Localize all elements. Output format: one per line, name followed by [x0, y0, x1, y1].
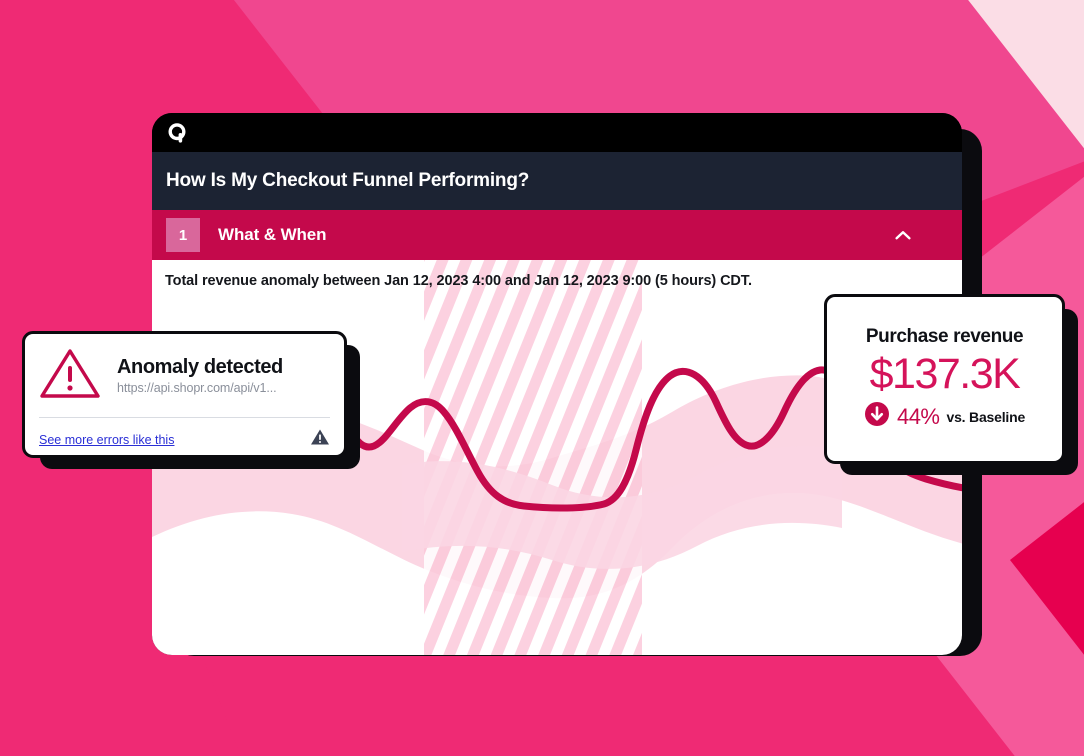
anomaly-card-body: Anomaly detected https://api.shopr.com/a…	[25, 334, 344, 413]
section-title: What & When	[218, 225, 326, 245]
see-more-errors-link[interactable]: See more errors like this	[39, 433, 174, 447]
revenue-card-comparison: vs. Baseline	[947, 409, 1026, 425]
anomaly-card-title: Anomaly detected	[117, 356, 283, 379]
anomaly-summary-text: Total revenue anomaly between Jan 12, 20…	[165, 273, 752, 289]
revenue-card-delta-row: 44% vs. Baseline	[864, 401, 1025, 432]
anomaly-card-footer: See more errors like this	[39, 417, 330, 451]
revenue-card-value: $137.3K	[870, 352, 1020, 397]
app-logo-bar	[152, 113, 962, 152]
arrow-down-circle-icon	[864, 401, 890, 432]
page-title: How Is My Checkout Funnel Performing?	[166, 170, 529, 192]
question-header: How Is My Checkout Funnel Performing?	[152, 152, 962, 210]
purchase-revenue-card: Purchase revenue $137.3K 44% vs. Baselin…	[824, 294, 1065, 464]
page-root: How Is My Checkout Funnel Performing? 1 …	[0, 0, 1084, 756]
quantum-q-logo-icon[interactable]	[166, 121, 190, 145]
anomaly-detected-card: Anomaly detected https://api.shopr.com/a…	[22, 331, 347, 458]
warning-triangle-icon	[39, 346, 101, 405]
revenue-card-label: Purchase revenue	[866, 326, 1023, 348]
warning-triangle-filled-icon[interactable]	[310, 428, 330, 451]
step-number-badge: 1	[166, 218, 200, 252]
anomaly-card-url: https://api.shopr.com/api/v1...	[117, 381, 283, 395]
section-header-what-and-when[interactable]: 1 What & When	[152, 210, 962, 260]
revenue-card-delta-percent: 44%	[897, 404, 940, 430]
anomaly-card-text-block: Anomaly detected https://api.shopr.com/a…	[117, 356, 283, 395]
chevron-up-icon[interactable]	[892, 224, 914, 246]
anomaly-window-hatch	[424, 260, 642, 655]
